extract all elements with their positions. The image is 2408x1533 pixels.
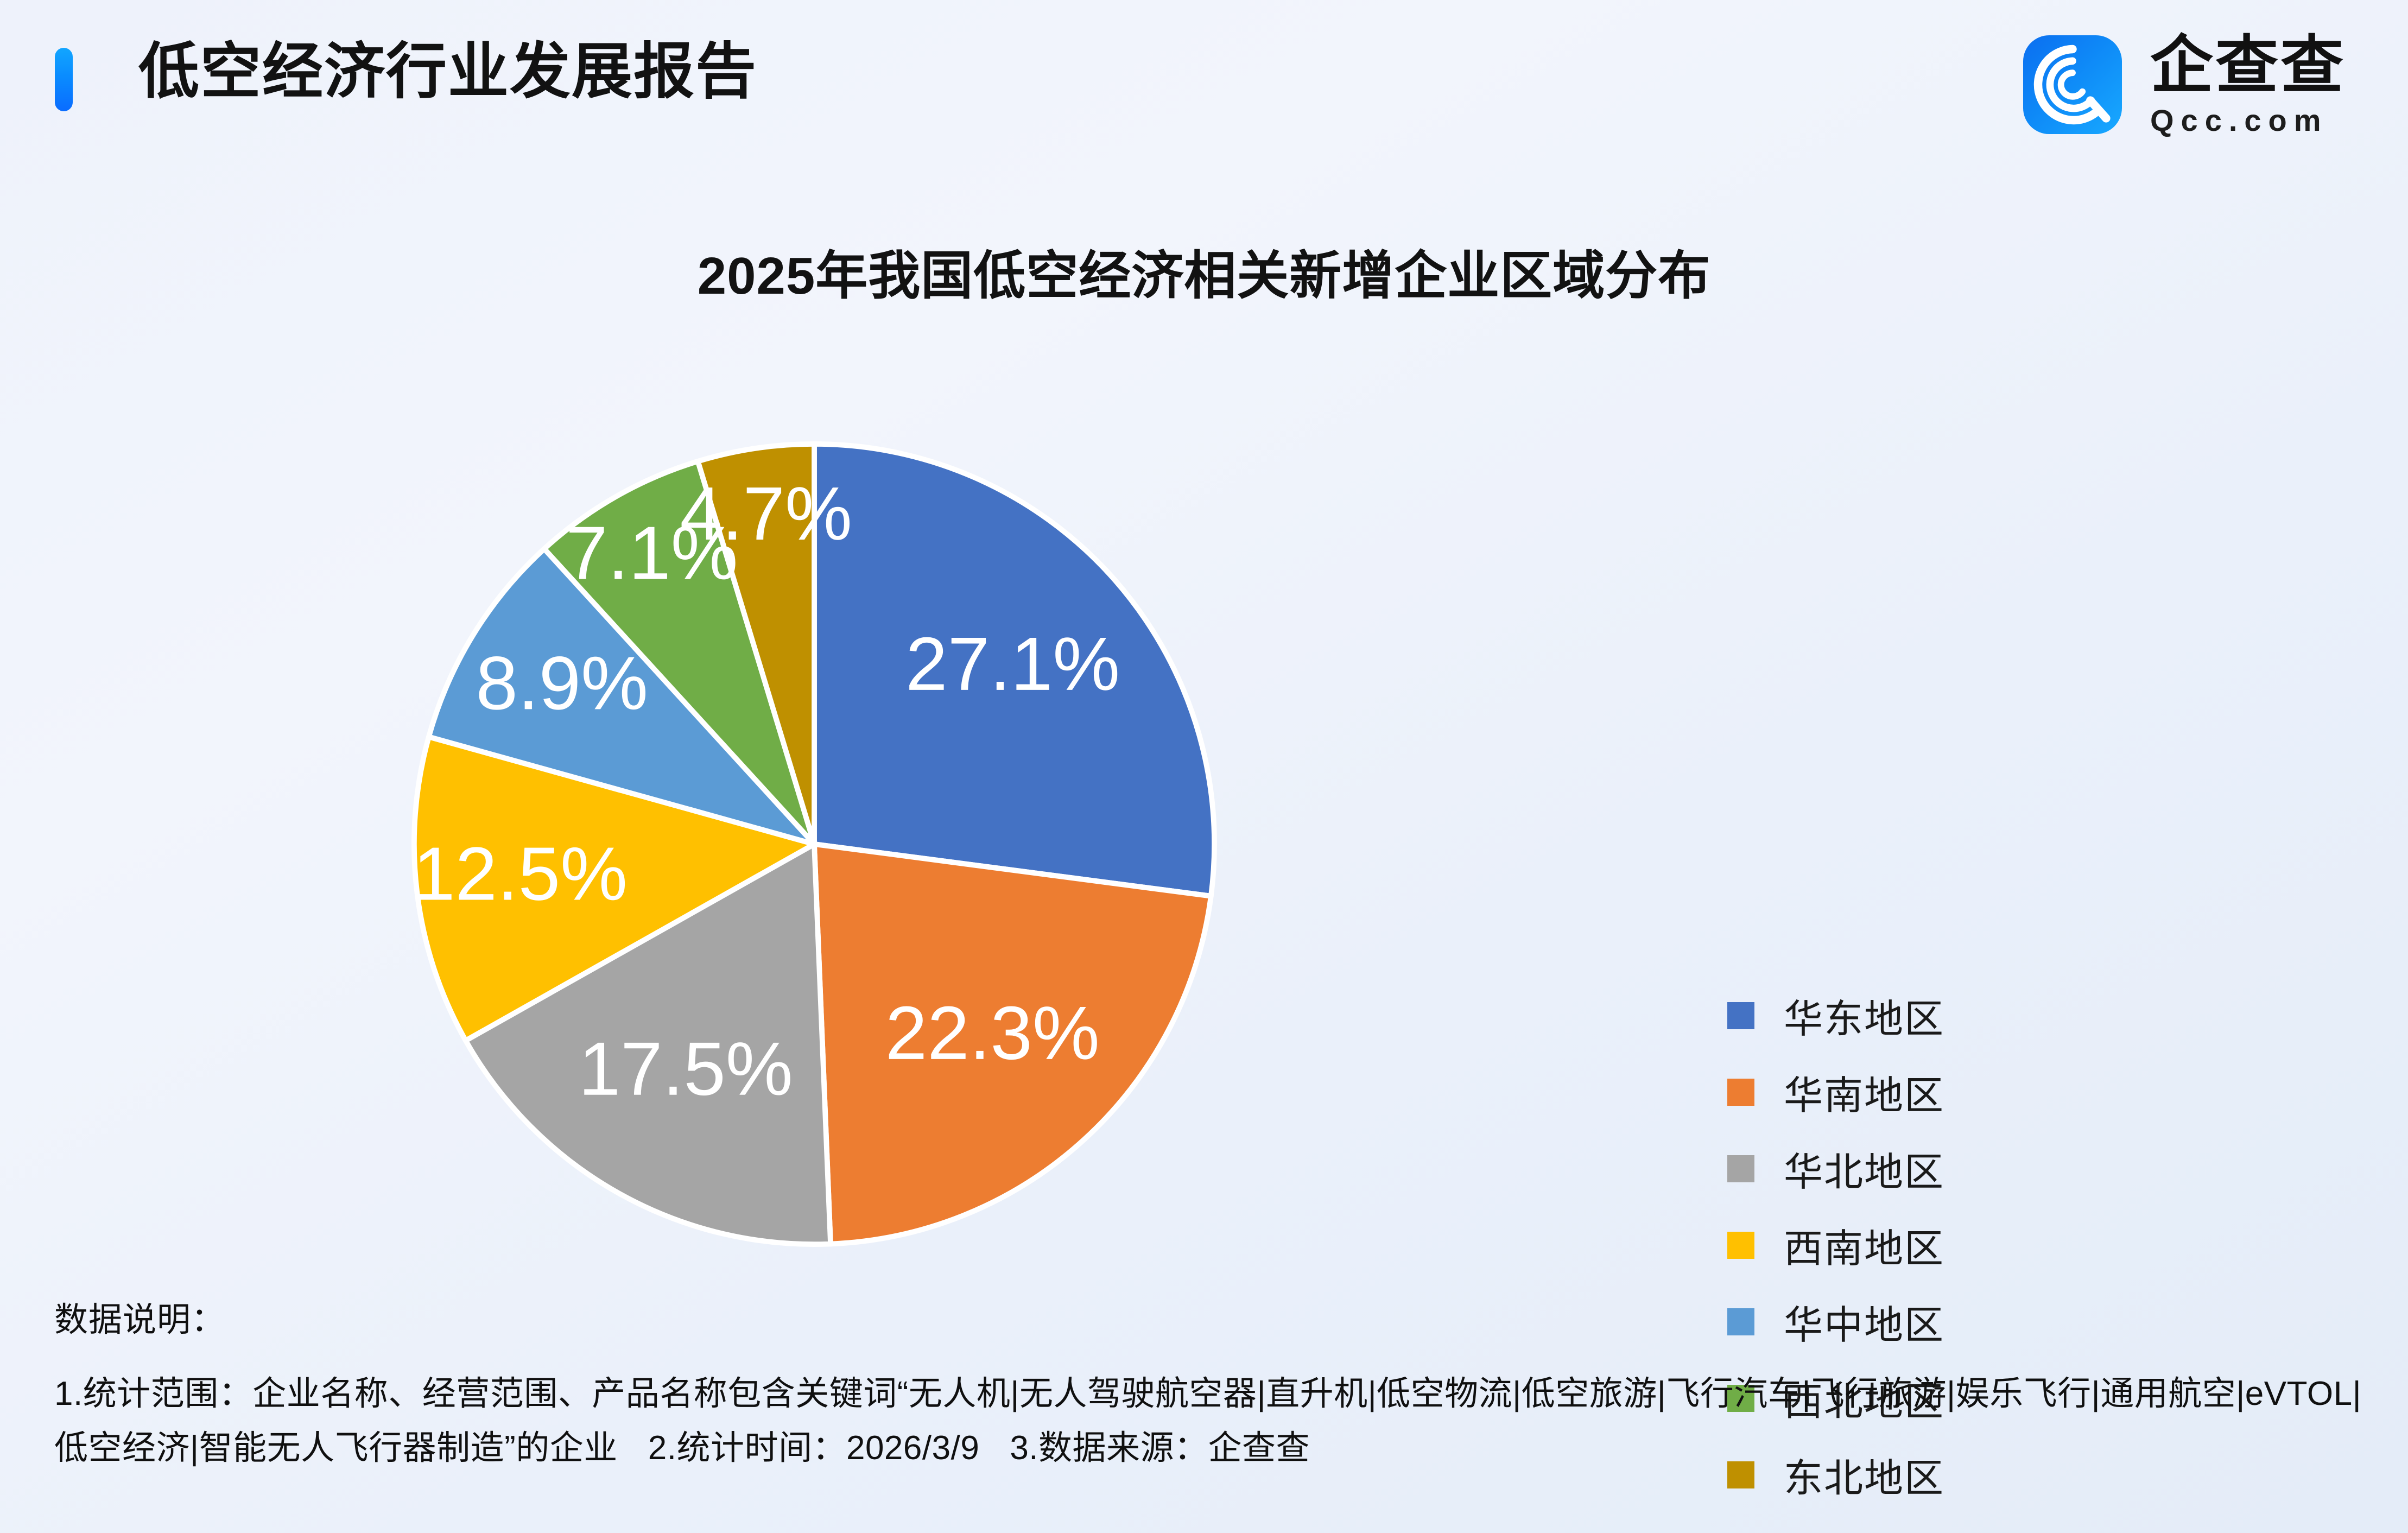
chart-title: 2025年我国低空经济相关新增企业区域分布 — [0, 233, 2408, 309]
brand-name-cn: 企查查 — [2150, 34, 2346, 97]
legend-label: 西南地区 — [1784, 1217, 1944, 1274]
qcc-logo-icon — [2023, 35, 2122, 134]
page-header: 低空经济行业发展报告 企查查 Qcc.com — [0, 0, 2408, 195]
legend-item[interactable]: 西南地区 — [1727, 1207, 1944, 1283]
chart-area: 27.1%22.3%17.5%12.5%8.9%7.1%4.7% 华东地区华南地… — [0, 380, 2408, 1259]
brand-logo: 企查查 Qcc.com — [2023, 34, 2346, 136]
legend-swatch-icon — [1727, 1079, 1754, 1106]
legend-item[interactable]: 华北地区 — [1727, 1130, 1944, 1207]
title-accent-bar — [55, 48, 73, 111]
legend-swatch-icon — [1727, 1232, 1754, 1259]
brand-name-en: Qcc.com — [2150, 105, 2346, 136]
pie-chart: 27.1%22.3%17.5%12.5%8.9%7.1%4.7% — [375, 404, 1254, 1284]
pie-slice-label: 4.7% — [680, 471, 852, 556]
pie-slice-label: 12.5% — [413, 832, 628, 916]
footer-note-line: 1.统计范围：企业名称、经营范围、产品名称包含关键词“无人机|无人驾驶航空器|直… — [54, 1367, 2383, 1476]
legend-swatch-icon — [1727, 1155, 1754, 1182]
pie-slice-label: 27.1% — [905, 622, 1120, 706]
pie-slice-label: 17.5% — [579, 1027, 793, 1111]
legend-label: 华北地区 — [1784, 1140, 1944, 1197]
legend-swatch-icon — [1727, 1002, 1754, 1029]
page-title: 低空经济行业发展报告 — [138, 34, 757, 110]
legend-label: 华东地区 — [1784, 987, 1944, 1044]
pie-slice-label: 8.9% — [476, 641, 648, 725]
footer-heading: 数据说明： — [54, 1292, 2383, 1341]
footer-notes: 数据说明： 1.统计范围：企业名称、经营范围、产品名称包含关键词“无人机|无人驾… — [54, 1292, 2383, 1476]
footnote-time: 2.统计时间：2026/3/9 — [648, 1429, 980, 1467]
brand-text: 企查查 Qcc.com — [2150, 34, 2346, 136]
legend-item[interactable]: 华东地区 — [1727, 977, 1944, 1054]
footnote-source: 3.数据来源：企查查 — [1010, 1429, 1310, 1467]
pie-slice-label: 22.3% — [885, 991, 1100, 1075]
legend-label: 华南地区 — [1784, 1063, 1944, 1120]
pie-chart-svg: 27.1%22.3%17.5%12.5%8.9%7.1%4.7% — [375, 404, 1254, 1284]
legend-item[interactable]: 华南地区 — [1727, 1054, 1944, 1130]
